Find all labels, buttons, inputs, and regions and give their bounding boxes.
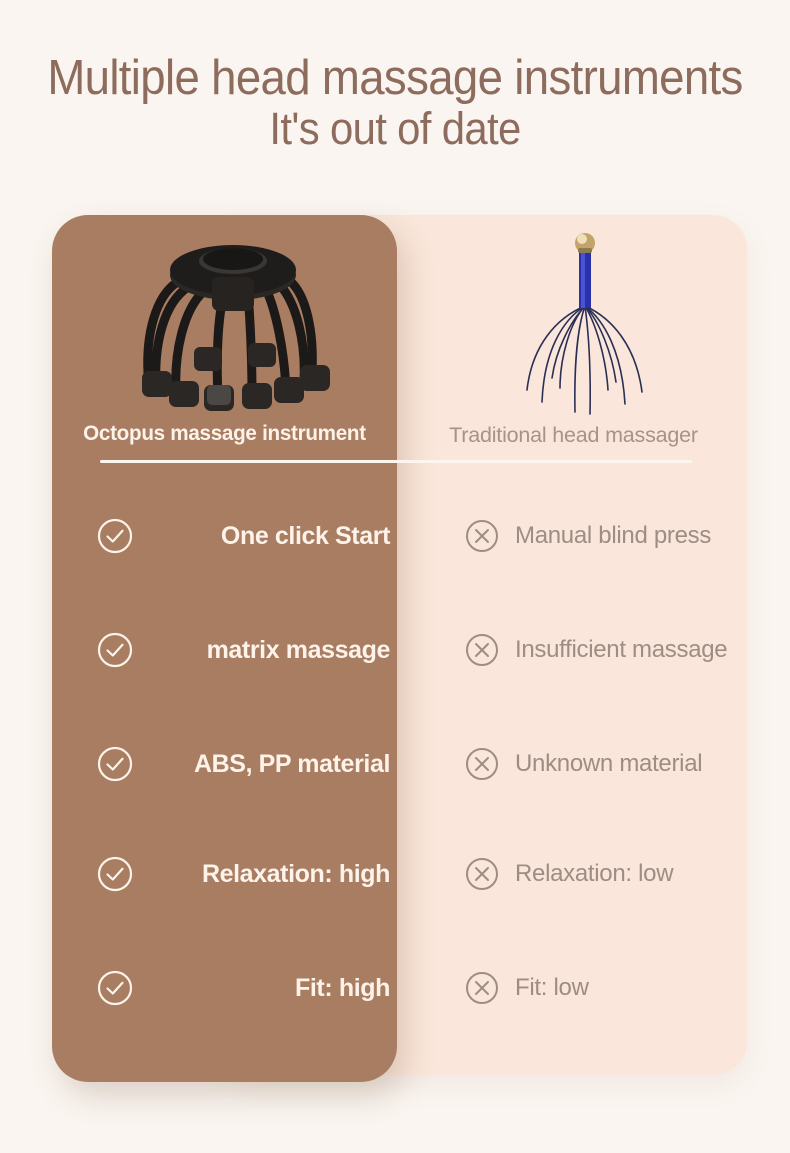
- feature-label-octopus: One click Start: [135, 522, 395, 551]
- feature-row: ABS, PP material Unknown material: [0, 736, 790, 792]
- feature-cell-traditional: Insufficient massage: [462, 622, 752, 678]
- check-circle-icon: [95, 630, 135, 670]
- feature-label-traditional: Insufficient massage: [502, 636, 727, 664]
- x-circle-icon: [462, 968, 502, 1008]
- feature-label-octopus: ABS, PP material: [135, 750, 395, 779]
- comparison-stage: Octopus massage instrument Traditional h…: [0, 0, 790, 1153]
- feature-cell-traditional: Fit: low: [462, 960, 752, 1016]
- check-circle-icon: [95, 744, 135, 784]
- x-circle-icon: [462, 516, 502, 556]
- feature-cell-octopus: ABS, PP material: [95, 736, 395, 792]
- check-circle-icon: [95, 968, 135, 1008]
- check-circle-icon: [95, 854, 135, 894]
- feature-row: matrix massage Insufficient massage: [0, 622, 790, 678]
- feature-cell-traditional: Unknown material: [462, 736, 752, 792]
- feature-label-octopus: matrix massage: [135, 636, 395, 665]
- feature-cell-traditional: Relaxation: low: [462, 846, 752, 902]
- feature-cell-octopus: Relaxation: high: [95, 846, 395, 902]
- feature-label-traditional: Unknown material: [502, 750, 702, 778]
- feature-label-traditional: Fit: low: [502, 974, 589, 1002]
- feature-cell-traditional: Manual blind press: [462, 508, 752, 564]
- x-circle-icon: [462, 744, 502, 784]
- feature-cell-octopus: One click Start: [95, 508, 395, 564]
- feature-cell-octopus: Fit: high: [95, 960, 395, 1016]
- feature-row: Relaxation: high Relaxation: low: [0, 846, 790, 902]
- feature-cell-octopus: matrix massage: [95, 622, 395, 678]
- feature-label-octopus: Relaxation: high: [135, 860, 395, 889]
- feature-row: Fit: high Fit: low: [0, 960, 790, 1016]
- check-circle-icon: [95, 516, 135, 556]
- feature-comparison-list: One click Start Manual blind press matri…: [0, 0, 790, 1153]
- feature-label-octopus: Fit: high: [135, 974, 395, 1003]
- feature-label-traditional: Manual blind press: [502, 522, 711, 550]
- feature-label-traditional: Relaxation: low: [502, 860, 673, 888]
- feature-row: One click Start Manual blind press: [0, 508, 790, 564]
- x-circle-icon: [462, 854, 502, 894]
- x-circle-icon: [462, 630, 502, 670]
